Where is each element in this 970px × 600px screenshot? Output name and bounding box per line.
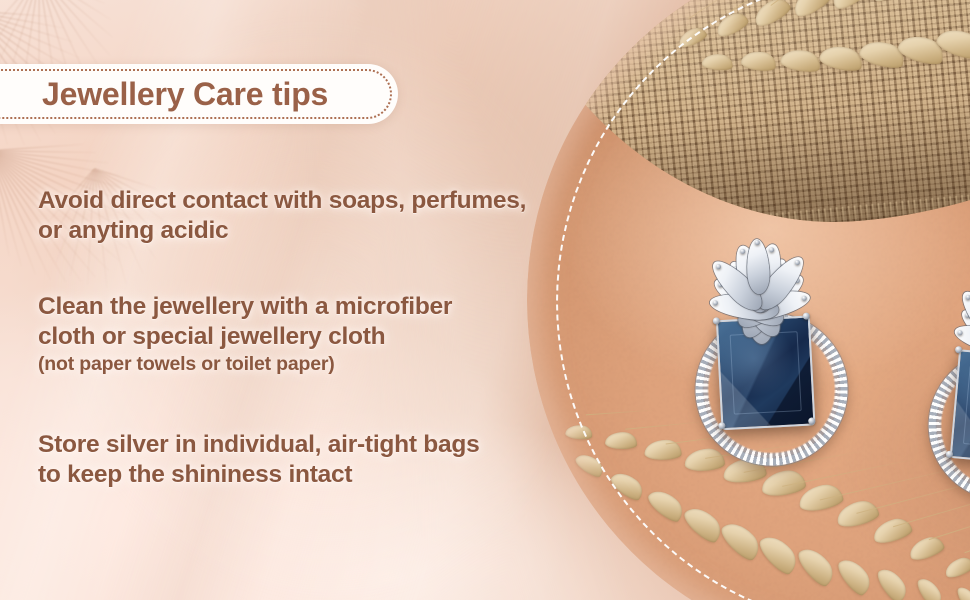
cluster-prong: [740, 248, 745, 253]
care-tip-3-line-2: to keep the shininess intact: [38, 460, 479, 490]
product-photo: [527, 0, 970, 600]
wheat-grain: [871, 515, 914, 545]
cluster-prong: [957, 330, 962, 335]
wheat-grain: [609, 468, 648, 504]
wheat-grain: [605, 431, 638, 450]
wheat-grain: [795, 542, 840, 590]
wheat-grain: [718, 516, 765, 564]
care-tip-2-line-2: cloth or special jewellery cloth: [38, 322, 452, 352]
wheat-grain: [874, 564, 911, 600]
wheat-grain: [788, 0, 835, 21]
wheat-grain: [865, 0, 917, 6]
wheat-grain: [713, 9, 751, 39]
care-tip-3-line-1: Store silver in individual, air-tight ba…: [38, 430, 479, 460]
wheat-grain: [943, 554, 970, 579]
wheat-grain: [818, 42, 865, 75]
wheat-awn: [585, 410, 655, 416]
title-badge: Jewellery Care tips: [0, 64, 398, 124]
cluster-prong: [965, 294, 970, 299]
product-photo-canvas: [527, 0, 970, 600]
wheat-grain: [740, 49, 778, 73]
wheat-grain: [701, 52, 733, 72]
wheat-grain: [915, 574, 946, 600]
cluster-prong: [715, 264, 720, 269]
wheat-grain: [573, 450, 606, 480]
care-tip-2-note: (not paper towels or toilet paper): [38, 352, 452, 376]
care-tip-1-line-1: Avoid direct contact with soaps, perfume…: [38, 186, 526, 216]
jewellery-care-banner: Jewellery Care tips Avoid direct contact…: [0, 0, 970, 600]
care-tip-2-line-1: Clean the jewellery with a microfiber: [38, 292, 452, 322]
care-tip-1: Avoid direct contact with soaps, perfume…: [38, 186, 526, 246]
cz-marquise-cluster: [681, 222, 836, 336]
wheat-grain: [826, 0, 876, 13]
wheat-grain: [644, 485, 687, 526]
wheat-grain: [565, 424, 594, 441]
wheat-grain: [834, 553, 875, 599]
care-tip-1-line-2: or anyting acidic: [38, 216, 526, 246]
earring-left: [681, 222, 843, 460]
wheat-grain: [756, 529, 803, 578]
wheat-grain: [907, 534, 946, 562]
page-title: Jewellery Care tips: [42, 76, 328, 113]
wheat-grain: [681, 501, 727, 546]
care-tip-2: Clean the jewellery with a microfiber cl…: [38, 292, 452, 376]
cluster-prong: [769, 247, 774, 252]
marquise-cz-petal: [952, 320, 970, 361]
care-tip-3: Store silver in individual, air-tight ba…: [38, 430, 479, 490]
wheat-grain: [779, 46, 822, 75]
wheat-grain: [676, 25, 708, 50]
wheat-grain: [955, 584, 970, 600]
